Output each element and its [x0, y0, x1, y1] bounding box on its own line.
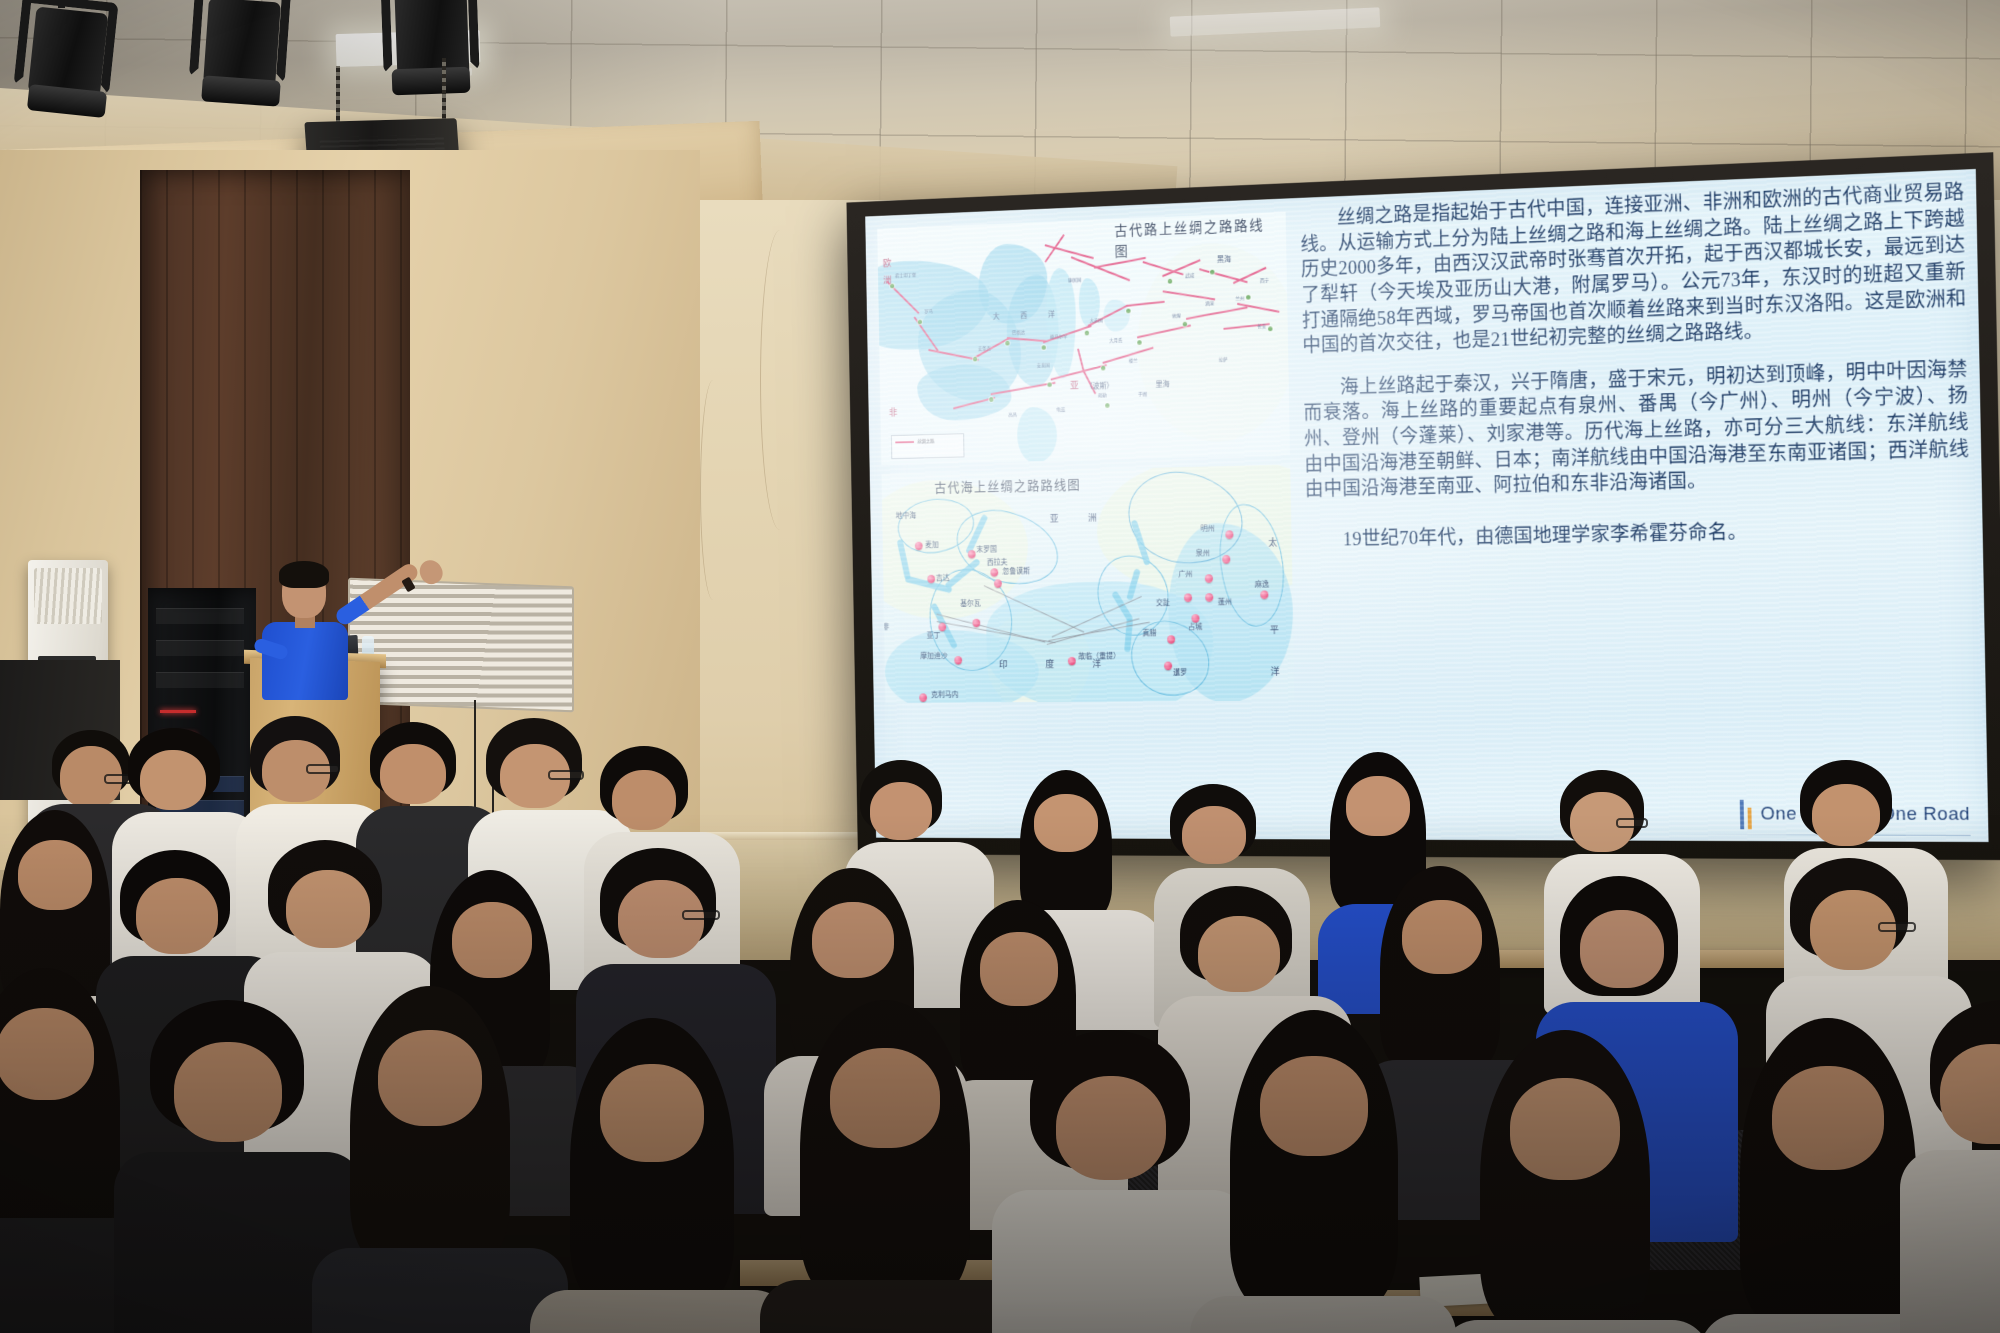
legend-label: 丝绸之路	[917, 440, 934, 445]
map-port-label: 麻逸	[1255, 581, 1269, 589]
map-city-label: 兰州	[1235, 297, 1244, 302]
map-city-label: 武威	[1185, 274, 1194, 279]
slide-paragraph: 19世纪70年代，由德国地理学家李希霍芬命名。	[1306, 516, 1971, 554]
glasses-icon	[306, 764, 340, 774]
glasses-icon	[548, 770, 584, 780]
map-city-label: 大月氏	[1109, 339, 1122, 344]
slide-paragraph: 海上丝路起于秦汉，兴于隋唐，盛于宋元，明初达到顶峰，明中叶因海禁而衰落。海上丝路…	[1303, 357, 1970, 504]
map-port-label: 占城	[1188, 623, 1202, 631]
map-region-label: 非	[882, 624, 889, 631]
speaker-chain	[442, 58, 446, 122]
maritime-silk-road-map: 亚 洲 印 度 洋 太 平 洋 地中海 非 明州 泉州 广州 交趾	[882, 465, 1295, 703]
map-port-label: 暹罗	[1173, 669, 1187, 677]
map-region-label: （波斯）	[1086, 382, 1114, 390]
map-port-label: 摩加迪沙	[920, 652, 947, 660]
map-city-label: 疏勒	[1098, 394, 1107, 399]
map-city-label: 楼兰	[1129, 359, 1138, 364]
map-city-label: 大宛国	[1090, 319, 1103, 324]
legend-route-swatch	[895, 441, 914, 443]
map-legend: 丝绸之路	[891, 433, 964, 459]
screenshot-root: 欧 洲 大 西 洋 亚 （波斯） 非 里海 黑海 君士坦丁堡 罗马 安条克 巴格…	[0, 0, 2000, 1333]
map-region-label: 欧	[883, 260, 894, 270]
map-port-label: 故临（重提）	[1078, 653, 1120, 661]
map-region-label: 非	[889, 409, 898, 418]
map-region-label: 大	[993, 313, 1000, 321]
map-region-label: 平	[1270, 626, 1280, 636]
map-port-label: 明州	[1200, 525, 1214, 533]
map-port-label: 忽鲁谟斯	[1002, 568, 1030, 576]
map-region-label: 洲	[883, 276, 894, 286]
map-city-label: 于阗	[1138, 393, 1147, 398]
map-region-label: 里海	[1156, 381, 1170, 389]
speaker-chain	[336, 66, 340, 124]
glasses-icon	[1616, 818, 1648, 828]
map-city-label: 敦煌	[1172, 314, 1181, 319]
presenter	[252, 566, 402, 696]
slide-text-column: 丝绸之路是指起始于古代中国，连接亚洲、非洲和欧洲的古代商业贸易路线。从运输方式上…	[1300, 179, 1976, 790]
map-city-label: 君士坦丁堡	[895, 274, 916, 279]
map-city-label: 罗马	[924, 310, 933, 315]
audience-area	[0, 700, 2000, 1333]
map-region-label: 洋	[1271, 668, 1281, 678]
map-city-label: 安息国	[1037, 364, 1050, 369]
map-city-label: 巴格达	[1012, 331, 1025, 336]
map-port-label: 吉达	[936, 575, 950, 583]
map-port-label: 泉州	[1196, 550, 1210, 558]
map-city-label: 龟兹	[1057, 408, 1066, 413]
slide-maps-column: 欧 洲 大 西 洋 亚 （波斯） 非 里海 黑海 君士坦丁堡 罗马 安条克 巴格…	[877, 212, 1294, 703]
map-city-label: 长安	[1257, 325, 1266, 330]
map-city-label: 酒泉	[1205, 302, 1214, 307]
map-region-label: 西	[1020, 312, 1027, 320]
map-port-label: 真腊	[1142, 630, 1156, 638]
map-region-label: 亚	[1070, 382, 1079, 392]
map-city-label: 康居国	[1068, 278, 1081, 283]
map-city-label: 安条克	[978, 347, 991, 352]
map-region-label: 洋	[1092, 660, 1101, 669]
map-port-label: 交趾	[1156, 599, 1170, 607]
glasses-icon	[682, 910, 720, 920]
map-region-label: 度	[1045, 661, 1054, 670]
map-region-label: 洲	[1088, 514, 1097, 524]
map-city-label: 高昌	[1008, 413, 1017, 418]
glasses-icon	[1878, 922, 1916, 932]
map-port-label: 末罗国	[976, 546, 997, 554]
map-region-label: 太	[1268, 539, 1278, 549]
map-region-label: 地中海	[896, 512, 916, 520]
map-city-label: 拉萨	[1219, 358, 1228, 363]
map-port-label: 蓬州	[1218, 599, 1232, 607]
map-city-label: 撒马尔罕	[1050, 335, 1067, 340]
map-port-label: 广州	[1178, 571, 1192, 579]
map-port-label: 亚丁	[927, 632, 941, 640]
map-port-label: 基尔瓦	[960, 600, 981, 608]
map-port-label: 克利马内	[931, 691, 958, 699]
land-map-title: 古代路上丝绸之路路线图	[1114, 217, 1265, 264]
map-port-label: 西拉夫	[987, 559, 1008, 567]
map-region-label: 洋	[1048, 311, 1055, 319]
map-port-label: 麦加	[925, 541, 939, 549]
map-city-label: 西宁	[1260, 279, 1269, 284]
maritime-map-title: 古代海上丝绸之路路线图	[934, 475, 1081, 497]
slide-paragraph: 丝绸之路是指起始于古代中国，连接亚洲、非洲和欧洲的古代商业贸易路线。从运输方式上…	[1300, 179, 1967, 359]
map-region-label: 亚	[1050, 515, 1059, 525]
map-region-label: 印	[999, 661, 1008, 670]
